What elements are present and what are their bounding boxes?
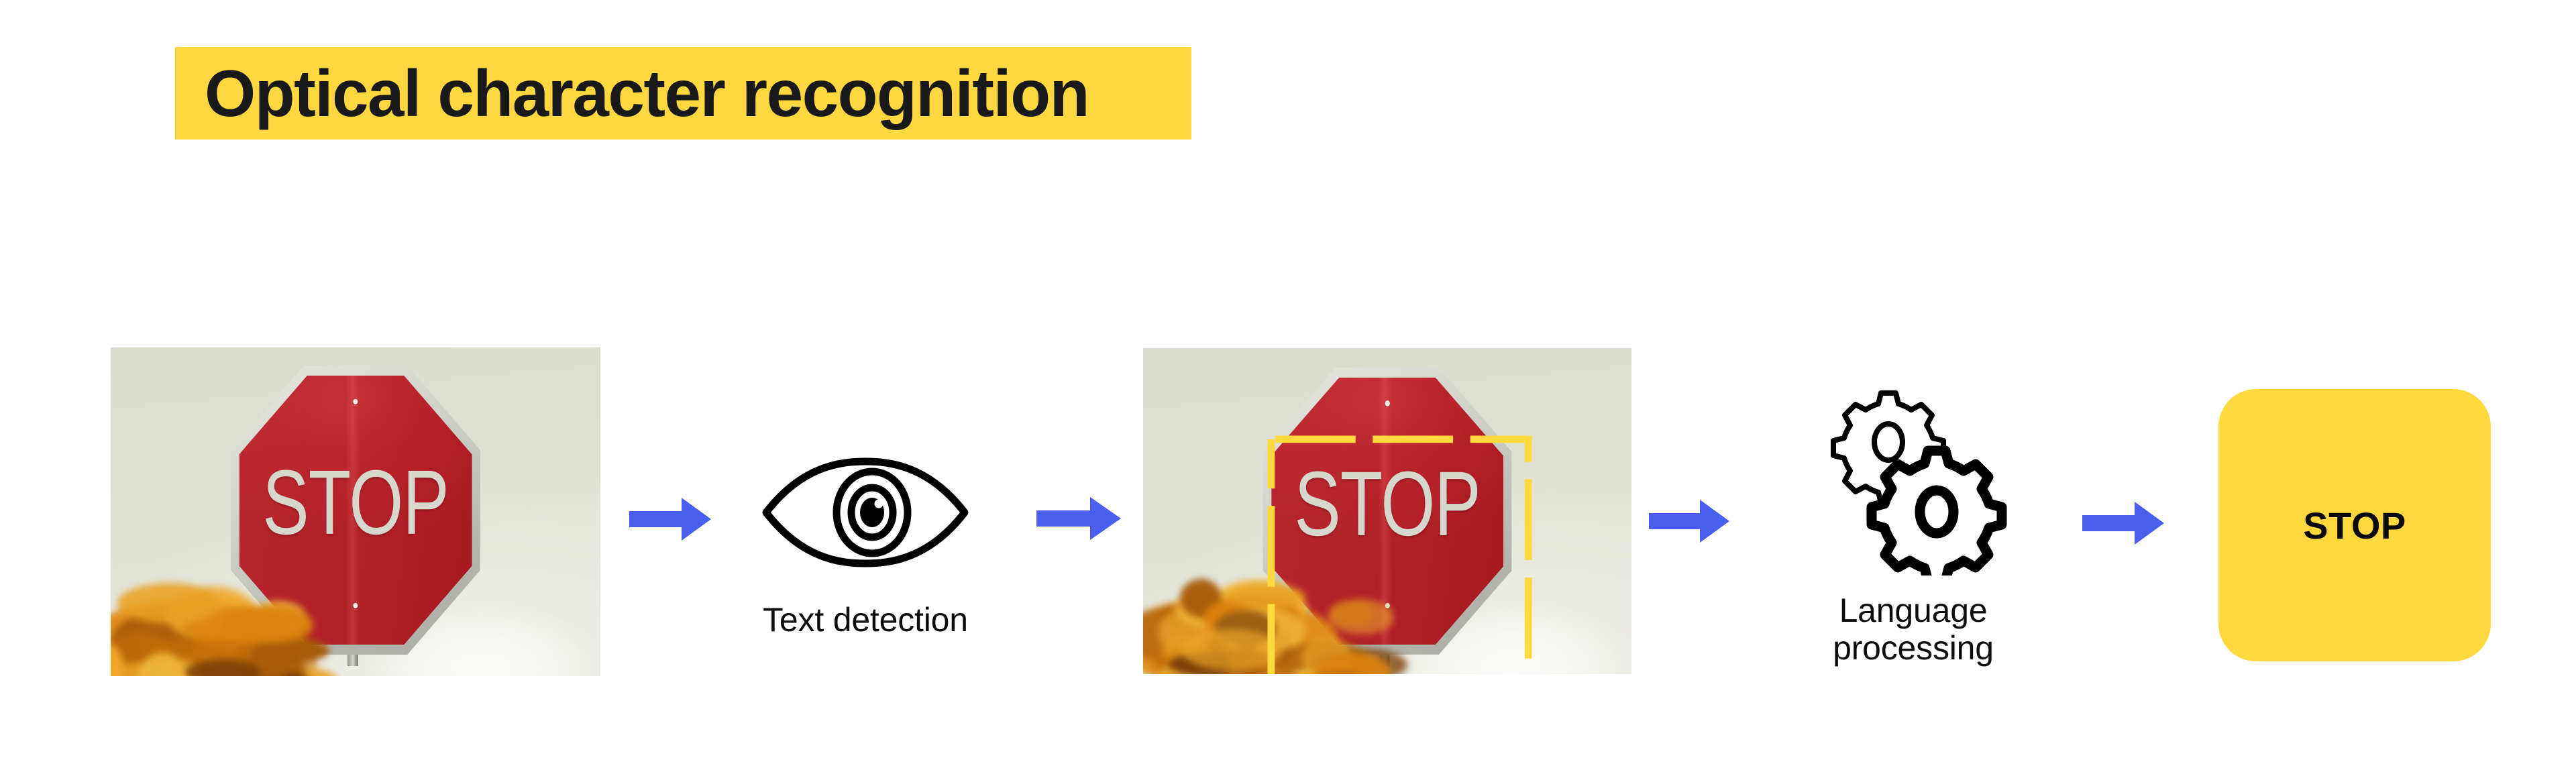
text-detection-label: Text detection bbox=[723, 601, 1008, 639]
arrow-right-icon bbox=[1649, 500, 1729, 543]
sign-bolt-top bbox=[1385, 400, 1389, 406]
language-processing-stage: Language processing bbox=[1754, 385, 2073, 667]
text-detection-stage: Text detection bbox=[723, 456, 1008, 639]
arrow-right-icon bbox=[1036, 497, 1121, 540]
sign-stop-text: STOP bbox=[228, 457, 483, 549]
recognized-text-output: STOP bbox=[2218, 389, 2491, 661]
arrow-right-icon bbox=[2082, 502, 2164, 545]
autumn-foliage bbox=[111, 571, 331, 676]
stop-sign-photo-with-detection-box: STOP bbox=[1143, 348, 1631, 674]
sign-stop-text: STOP bbox=[1260, 458, 1515, 550]
foliage-cluster bbox=[1181, 629, 1281, 671]
sign-bolt-bottom bbox=[353, 603, 358, 609]
ocr-pipeline-diagram: STOP Text detection bbox=[0, 0, 2576, 766]
eye-icon bbox=[761, 456, 970, 569]
gears-icon bbox=[1818, 385, 2008, 576]
arrow-right-icon bbox=[629, 498, 711, 541]
gear-large bbox=[1872, 451, 2002, 576]
sign-bolt-top bbox=[353, 399, 358, 405]
foliage-cluster bbox=[1328, 600, 1374, 626]
stop-sign-photo: STOP bbox=[111, 347, 600, 676]
language-processing-label: Language processing bbox=[1754, 592, 2073, 667]
output-text: STOP bbox=[2303, 504, 2406, 547]
autumn-foliage bbox=[1143, 569, 1363, 674]
